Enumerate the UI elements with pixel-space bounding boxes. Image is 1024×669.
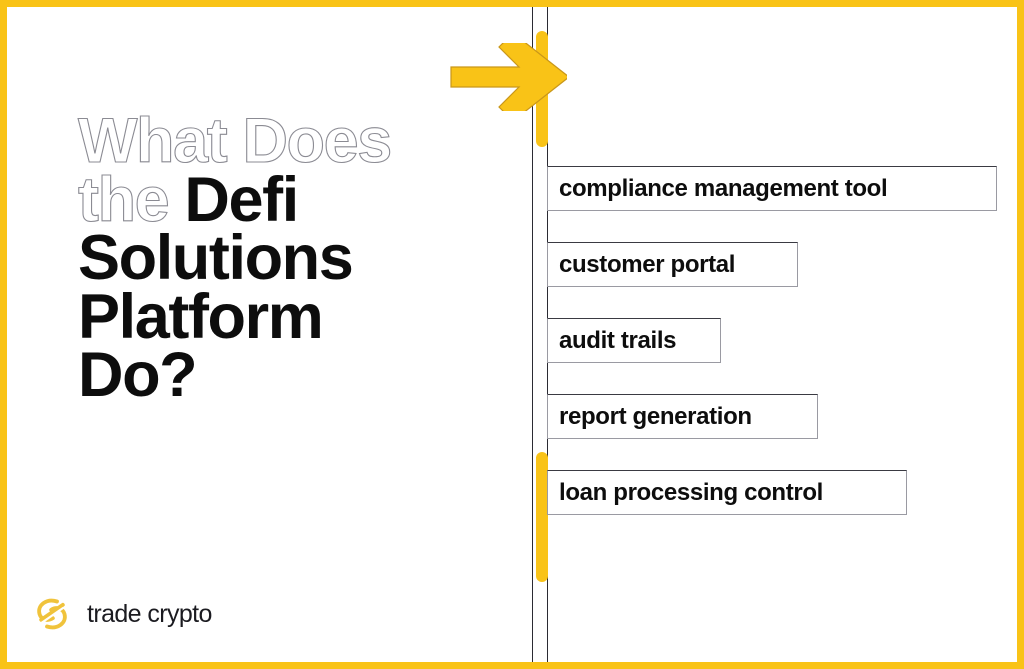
list-item-label: customer portal <box>548 251 746 279</box>
frame-border-right <box>1017 0 1024 669</box>
list-item-label: audit trails <box>548 327 687 355</box>
list-item-label: compliance management tool <box>548 175 898 203</box>
title-line-5: Do? <box>78 340 196 410</box>
brand-name: trade crypto <box>87 600 212 629</box>
arrow-right-icon <box>445 43 567 111</box>
list-item: customer portal <box>547 242 798 287</box>
infographic-canvas: What Does the Defi Solutions Platform Do… <box>0 0 1024 669</box>
page-title: What Does the Defi Solutions Platform Do… <box>78 112 526 405</box>
frame-border-top <box>0 0 1024 7</box>
list-item-label: report generation <box>548 403 763 431</box>
brand-logo: trade crypto <box>32 594 212 634</box>
trade-crypto-mark-icon <box>32 594 72 634</box>
frame-border-bottom <box>0 662 1024 669</box>
list-item: compliance management tool <box>547 166 997 211</box>
list-item: audit trails <box>547 318 721 363</box>
list-item: report generation <box>547 394 818 439</box>
frame-border-left <box>0 0 7 669</box>
list-item: loan processing control <box>547 470 907 515</box>
list-item-label: loan processing control <box>548 479 834 507</box>
